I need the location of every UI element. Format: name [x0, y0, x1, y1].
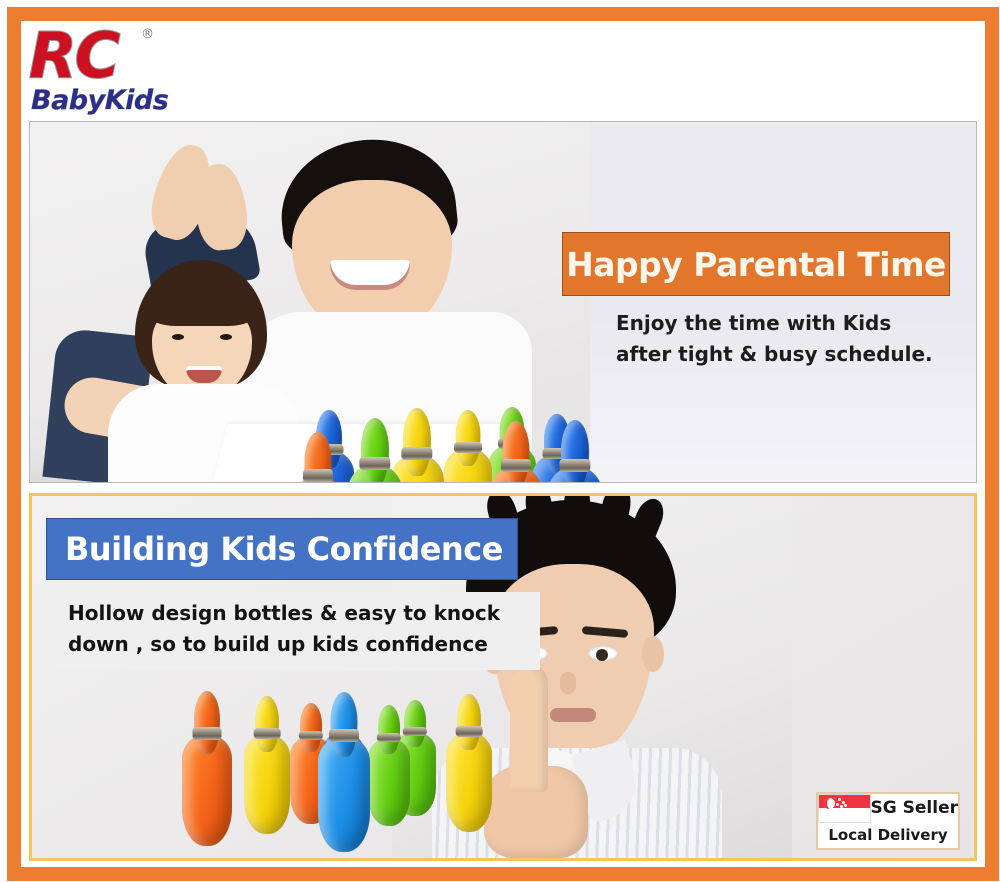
boy-mouth — [550, 708, 596, 722]
bowling-pin-green — [348, 464, 402, 483]
pin-neck — [457, 694, 481, 750]
pin-body — [548, 466, 602, 483]
local-delivery-label: Local Delivery — [818, 823, 958, 848]
pin-body — [444, 448, 492, 483]
boy-nose — [560, 672, 576, 694]
headline-text-bottom: Building Kids Confidence — [65, 530, 503, 568]
pin-neck — [330, 692, 357, 757]
body-line-2: after tight & busy schedule. — [616, 339, 956, 370]
pin-neck — [456, 410, 481, 466]
bowling-pin-group-bottom — [182, 656, 502, 856]
panel-happy-parental-time: Happy Parental Time Enjoy the time with … — [29, 121, 977, 483]
pin-metallic-band — [329, 729, 359, 742]
flag-star — [844, 804, 847, 807]
girl-eye-right — [220, 334, 232, 340]
bowling-pin-yellow — [244, 734, 290, 834]
girl-eye-left — [172, 334, 184, 340]
bowling-pin-yellow — [444, 448, 492, 483]
pin-metallic-band — [456, 726, 483, 737]
advertisement-banner: RC ® BabyKids Happy — [0, 0, 1000, 882]
pin-body — [348, 464, 402, 483]
badge-top-row: SG Seller — [818, 794, 958, 823]
bowling-pin-blue — [548, 466, 602, 483]
sg-seller-label: SG Seller — [871, 794, 958, 823]
brand-logo[interactable]: RC ® BabyKids — [21, 23, 191, 118]
pin-body — [446, 732, 492, 832]
pin-neck — [194, 691, 220, 754]
pin-neck — [502, 421, 529, 483]
bowling-pin-green — [368, 738, 410, 826]
pin-neck — [255, 696, 279, 752]
flag-star — [836, 803, 839, 806]
pin-metallic-band — [454, 442, 482, 453]
pin-metallic-band — [401, 447, 432, 460]
flag-star — [838, 798, 841, 801]
boy-ear-right — [642, 636, 664, 672]
pin-neck — [378, 705, 400, 754]
body-line-1: Hollow design bottles & easy to knock — [68, 598, 530, 629]
thumbs-up-icon — [510, 664, 548, 792]
panel-building-kids-confidence: Building Kids Confidence Hollow design b… — [29, 493, 977, 861]
pin-neck — [403, 408, 431, 476]
pin-body — [318, 736, 370, 852]
headline-banner-blue: Building Kids Confidence — [46, 518, 518, 580]
pin-body — [292, 476, 344, 483]
pin-metallic-band — [359, 457, 390, 470]
father-smile — [330, 260, 410, 290]
logo-wordmark-text: BabyKids — [31, 85, 168, 116]
pin-metallic-band — [403, 727, 427, 736]
boy-hair-spike — [563, 496, 591, 530]
pin-metallic-band — [501, 459, 531, 472]
pin-neck — [561, 420, 589, 483]
bowling-pin-group-top — [292, 362, 612, 483]
pin-body — [244, 734, 290, 834]
logo-mark-text: RC — [29, 25, 118, 87]
pin-metallic-band — [559, 459, 590, 472]
boy-pupil-right — [596, 649, 608, 661]
bowling-pin-light-blue — [318, 736, 370, 852]
headline-banner-orange: Happy Parental Time — [562, 232, 950, 296]
pin-metallic-band — [377, 733, 401, 743]
pin-metallic-band — [254, 728, 281, 739]
singapore-flag-icon — [818, 794, 871, 823]
pin-body — [490, 466, 542, 483]
bowling-pin-yellow — [446, 732, 492, 832]
girl-fringe — [148, 292, 256, 326]
pin-neck — [361, 418, 389, 483]
pin-body — [368, 738, 410, 826]
bowling-pin-orange — [490, 466, 542, 483]
pin-metallic-band — [303, 469, 333, 482]
body-text-top: Enjoy the time with Kids after tight & b… — [616, 308, 956, 370]
flag-star — [840, 805, 843, 808]
headline-text-top: Happy Parental Time — [566, 245, 946, 284]
flag-crescent — [824, 798, 835, 809]
bowling-pin-orange — [292, 476, 344, 483]
pin-body — [182, 734, 232, 846]
body-line-1: Enjoy the time with Kids — [616, 308, 956, 339]
pin-metallic-band — [193, 727, 222, 739]
sg-seller-badge: SG Seller Local Delivery — [816, 792, 960, 850]
bowling-pin-orange — [182, 734, 232, 846]
registered-trademark-icon: ® — [141, 27, 154, 42]
